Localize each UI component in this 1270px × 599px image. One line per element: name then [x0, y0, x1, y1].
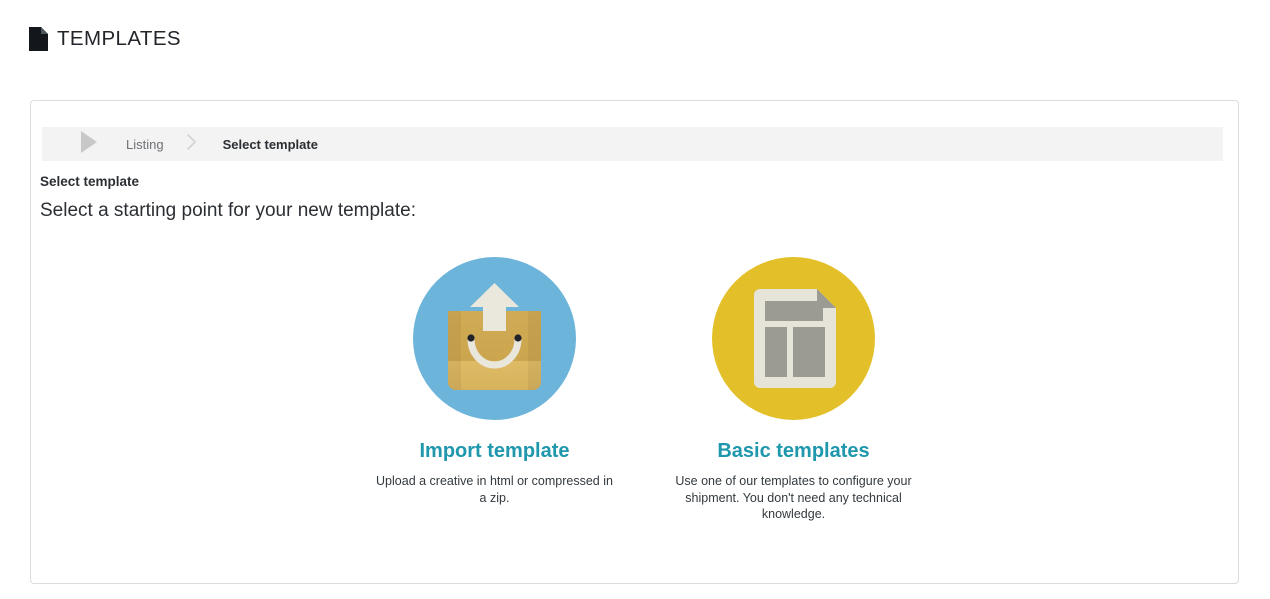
breadcrumb-item-listing[interactable]: Listing: [126, 138, 164, 151]
section-subtitle: Select a starting point for your new tem…: [40, 200, 416, 223]
choice-basic-templates[interactable]: Basic templates Use one of our templates…: [671, 257, 916, 523]
template-choice-list: Import template Upload a creative in htm…: [372, 257, 917, 523]
section-title: Select template: [40, 175, 139, 189]
choice-title: Import template: [419, 441, 569, 461]
triangle-right-icon: [42, 131, 97, 158]
content-card: Listing Select template Select template …: [30, 100, 1239, 584]
choice-title: Basic templates: [717, 441, 869, 461]
choice-description: Use one of our templates to configure yo…: [674, 473, 914, 523]
breadcrumb: Listing Select template: [42, 127, 1223, 161]
page-header: TEMPLATES: [29, 27, 181, 51]
page-title: TEMPLATES: [57, 29, 181, 50]
document-template-icon: [712, 257, 875, 420]
upload-bag-icon: [413, 257, 576, 420]
document-icon: [29, 27, 48, 51]
breadcrumb-item-select-template: Select template: [223, 138, 318, 151]
choice-import-template[interactable]: Import template Upload a creative in htm…: [372, 257, 617, 506]
chevron-right-icon: [164, 134, 197, 155]
choice-description: Upload a creative in html or compressed …: [375, 473, 615, 506]
